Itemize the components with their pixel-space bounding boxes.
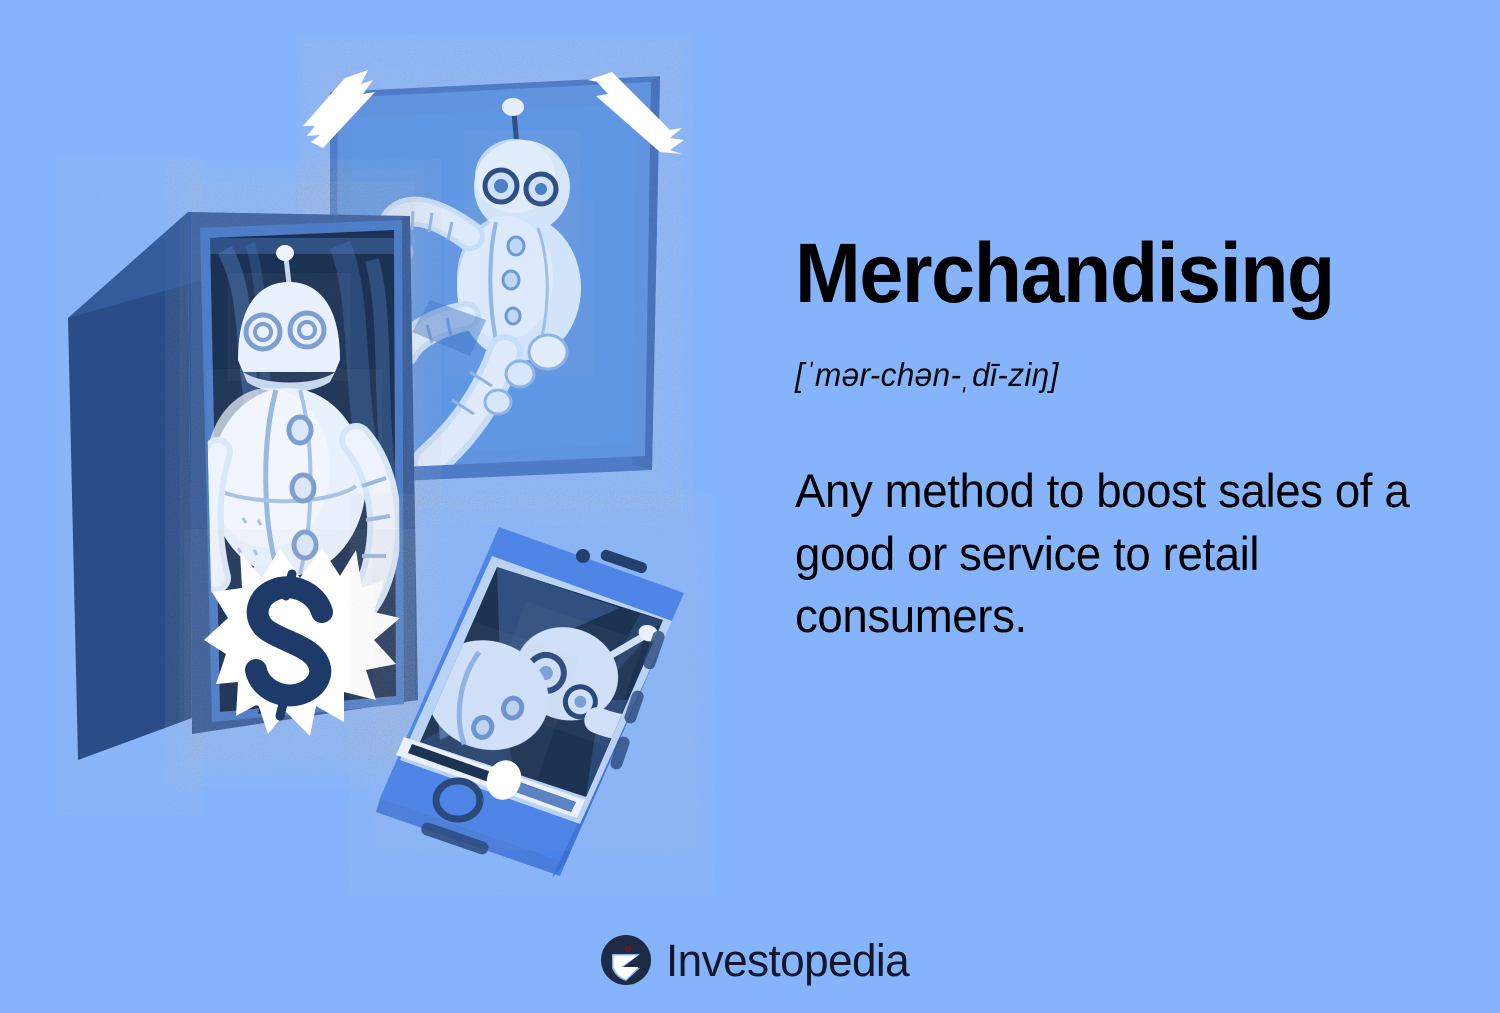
front-camera-icon: [576, 549, 590, 563]
investopedia-logo[interactable]: Investopedia: [600, 934, 914, 986]
investopedia-circle-z-icon: [600, 934, 652, 986]
smartphone[interactable]: [376, 527, 696, 878]
poster-canvas: Merchandising [ˈmər-chən-ˌdī-ziŋ] Any me…: [0, 0, 1500, 1013]
brand-name: Investopedia: [666, 938, 909, 983]
page-title: Merchandising: [795, 232, 1397, 314]
definition-text: Any method to boost sales of a good or s…: [795, 394, 1416, 648]
illustration: [0, 0, 780, 1013]
definition-block: Merchandising [ˈmər-chən-ˌdī-ziŋ] Any me…: [795, 232, 1435, 648]
pronunciation: [ˈmər-chən-ˌdī-ziŋ]: [795, 314, 1409, 394]
illustration-svg: [0, 0, 780, 1013]
